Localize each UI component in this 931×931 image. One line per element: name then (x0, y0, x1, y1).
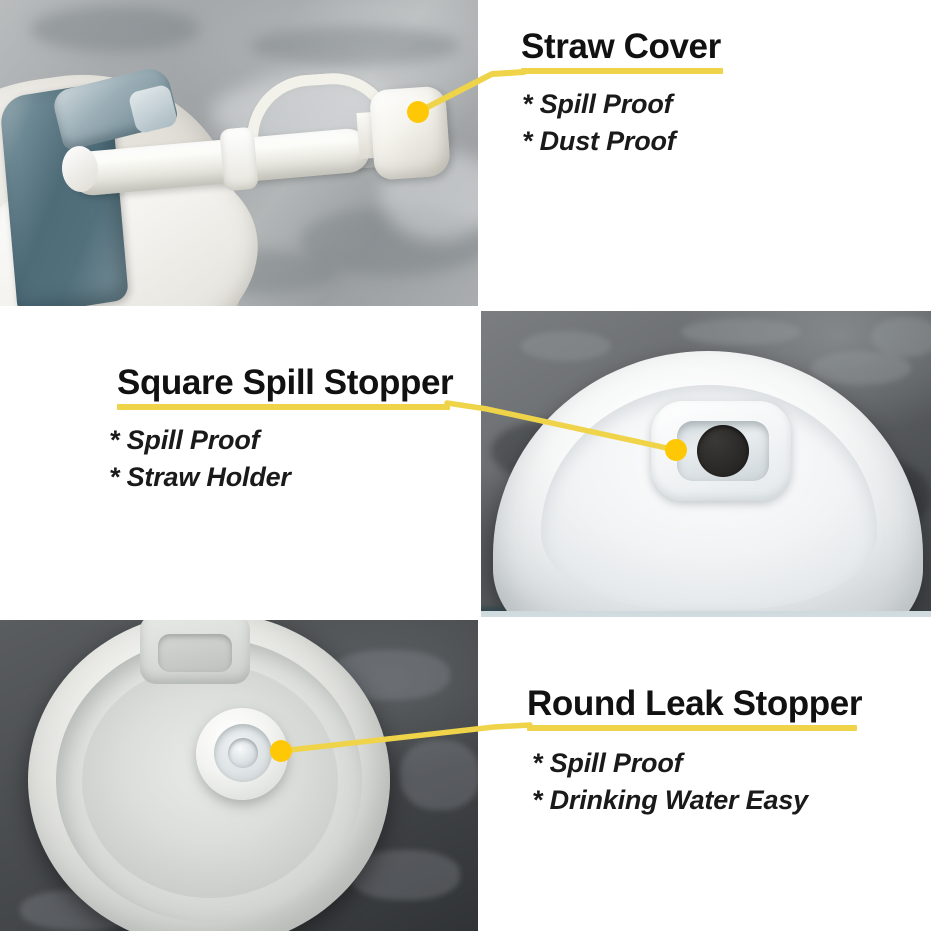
feature-bullet: * Spill Proof (532, 745, 862, 782)
round-leak-stopper-photo (0, 620, 478, 931)
stucco-texture (681, 319, 801, 345)
stucco-texture (871, 317, 931, 357)
concrete-texture-vein (30, 6, 200, 52)
feature-bullet: * Drinking Water Easy (532, 782, 862, 819)
concrete-texture-vein (250, 26, 460, 66)
feature-title-round-leak-stopper: Round Leak Stopper (527, 685, 862, 723)
straw-cover-photo (0, 0, 478, 306)
square-spill-stopper-photo (481, 311, 931, 617)
product-feature-infographic: Straw Cover * Spill Proof * Dust Proof S… (0, 0, 931, 931)
callout-square-spill-stopper: Square Spill Stopper * Spill Proof * Str… (117, 364, 453, 496)
straw-hole (697, 425, 749, 477)
feature-bullet: * Spill Proof (109, 422, 453, 459)
lid-underside-bracket-slot (158, 634, 232, 672)
stucco-texture (521, 331, 611, 361)
feature-bullet: * Spill Proof (522, 86, 723, 123)
feature-bullet: * Straw Holder (109, 459, 453, 496)
title-underline (521, 68, 723, 74)
round-leak-stopper-core (228, 738, 258, 768)
callout-round-leak-stopper: Round Leak Stopper * Spill Proof * Drink… (527, 685, 862, 819)
straw-cover-plug (369, 85, 451, 180)
feature-title-straw-cover: Straw Cover (521, 28, 723, 66)
title-underline (117, 404, 450, 410)
feature-bullet: * Dust Proof (522, 123, 723, 160)
slate-texture (400, 740, 478, 810)
tumbler-lid-band (481, 611, 931, 617)
straw-collar-ring (219, 127, 258, 192)
title-underline (527, 725, 857, 731)
callout-straw-cover: Straw Cover * Spill Proof * Dust Proof (521, 28, 723, 160)
feature-title-square-spill-stopper: Square Spill Stopper (117, 364, 453, 402)
